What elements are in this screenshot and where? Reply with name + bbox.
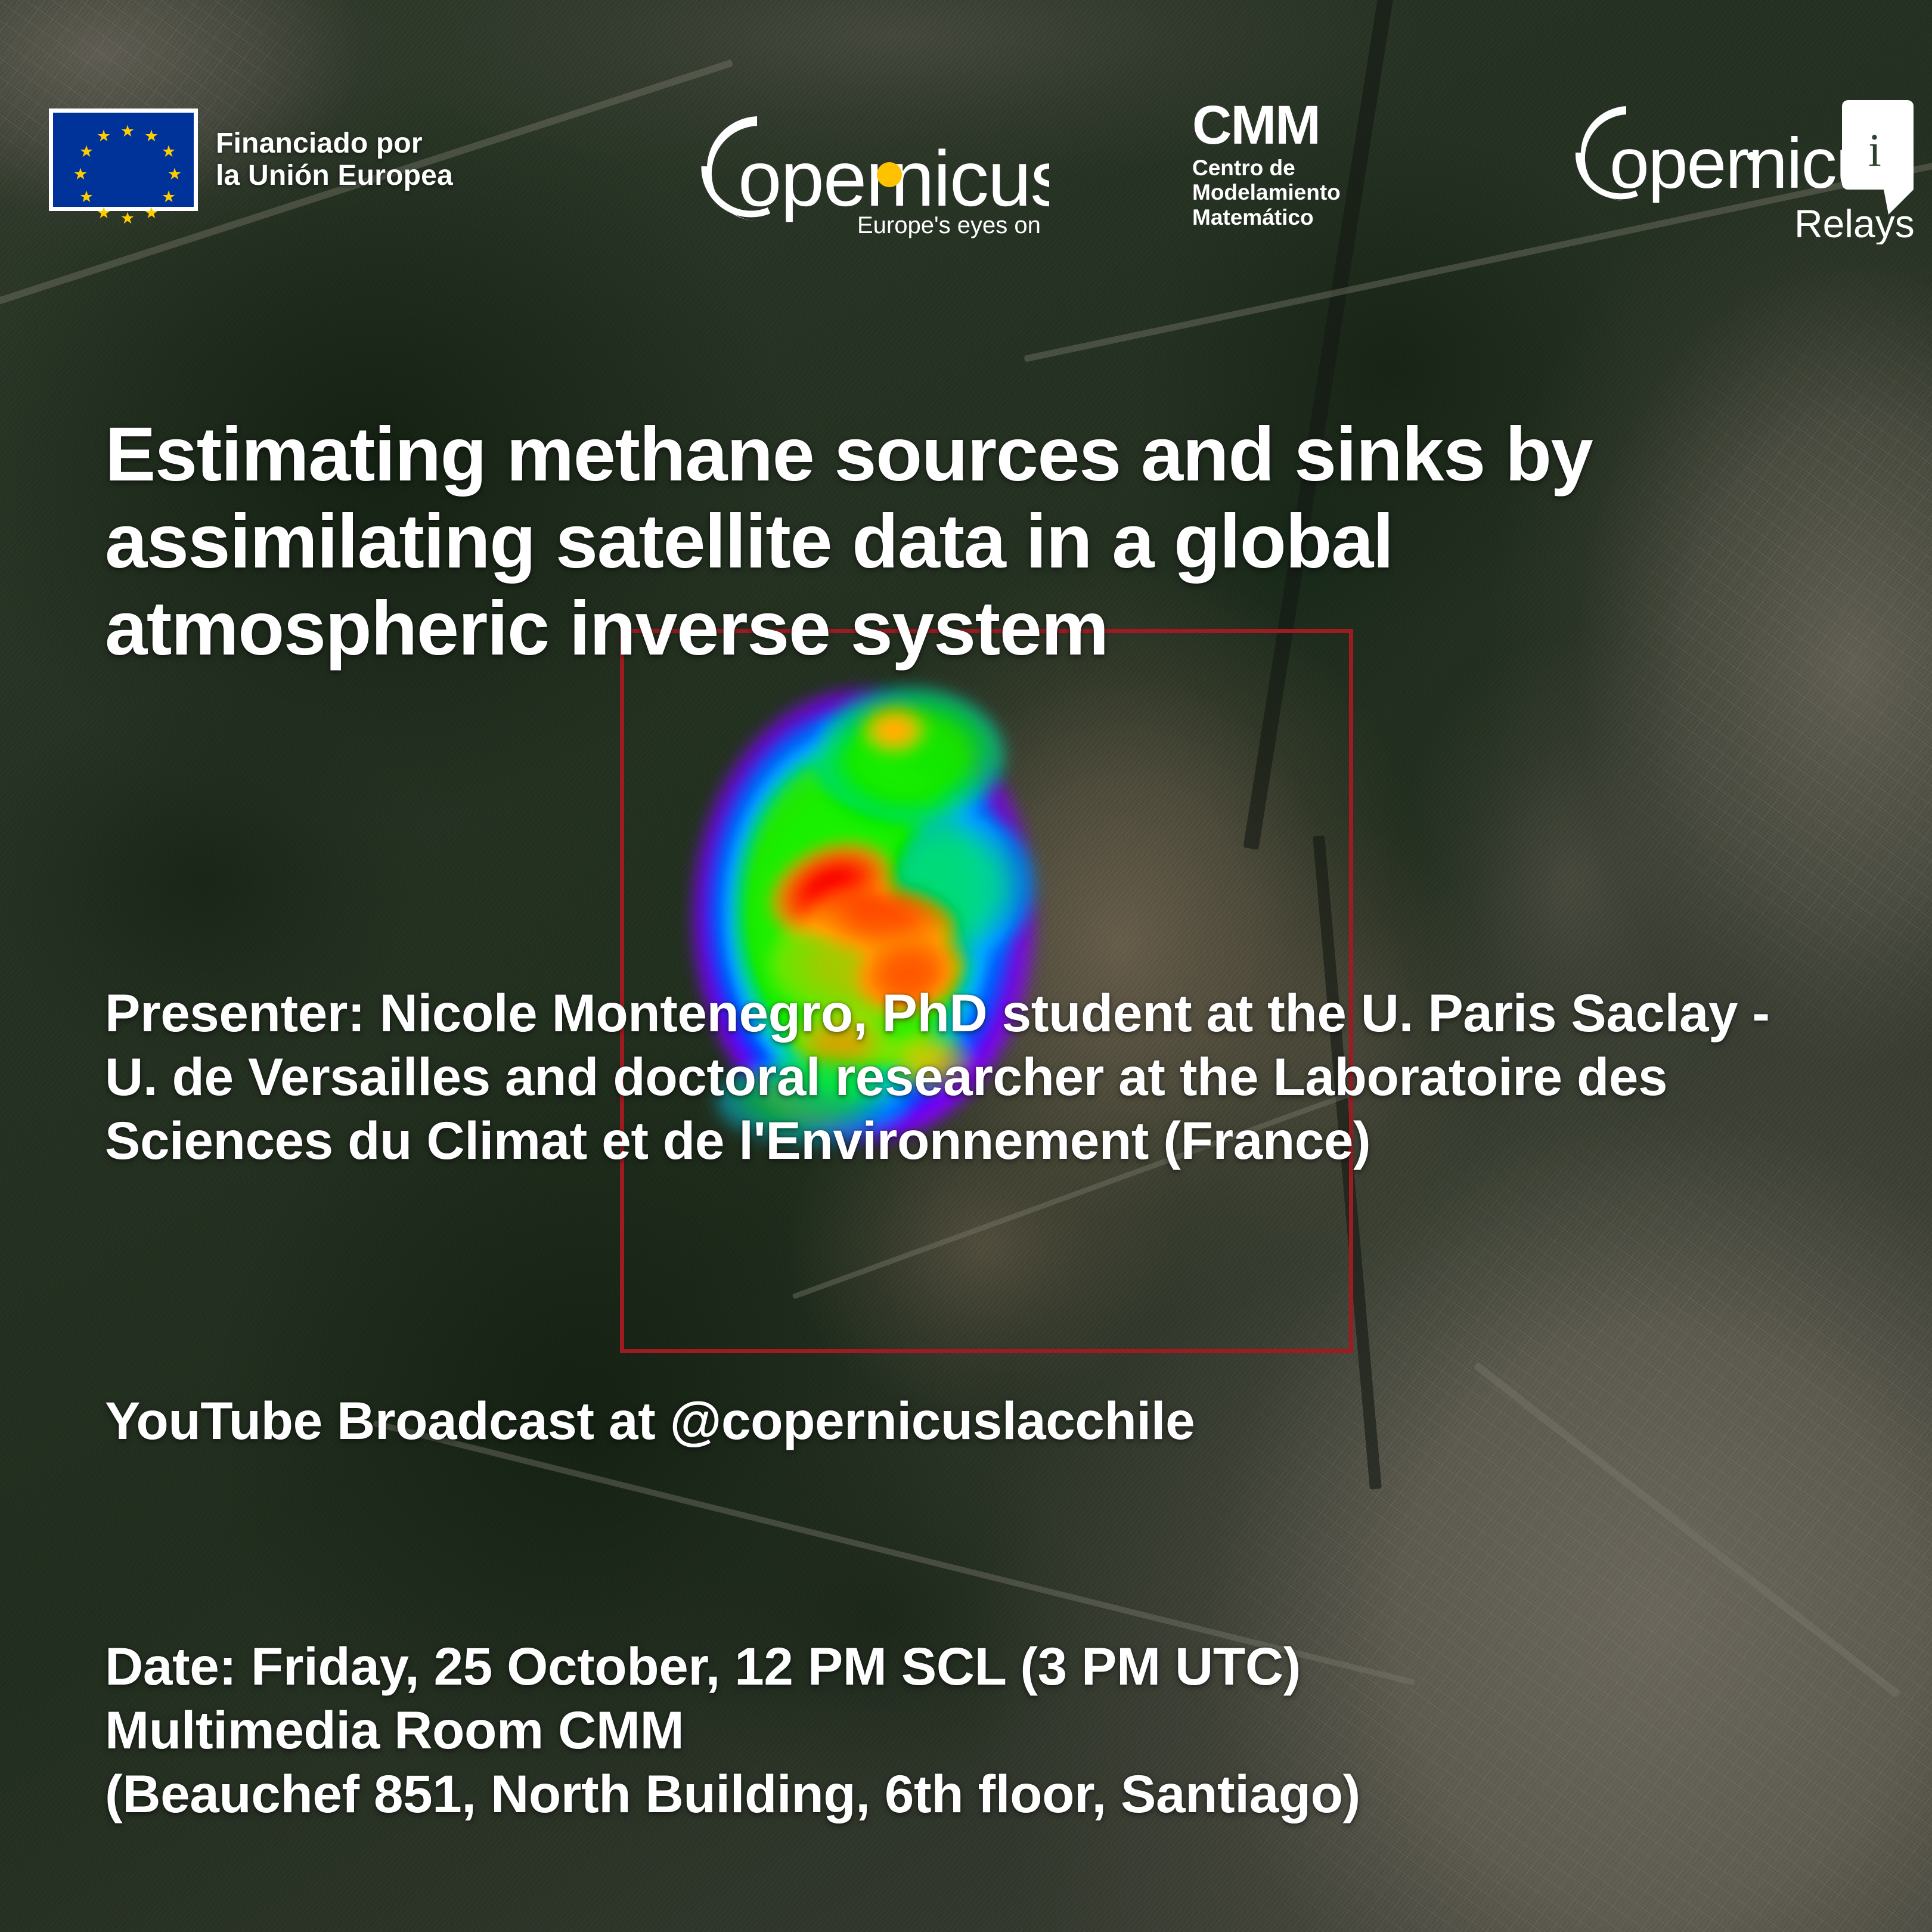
broadcast-info: YouTube Broadcast at @copernicuslacchile xyxy=(105,1389,1792,1453)
presenter-info: Presenter: Nicole Montenegro, PhD studen… xyxy=(105,981,1792,1172)
poster-content: Estimating methane sources and sinks by … xyxy=(0,0,1932,1932)
date-location-info: Date: Friday, 25 October, 12 PM SCL (3 P… xyxy=(105,1635,1822,1825)
poster-canvas: ★ ★ ★ ★ ★ ★ ★ ★ ★ ★ ★ ★ Financiado por l… xyxy=(0,0,1932,1932)
page-title: Estimating methane sources and sinks by … xyxy=(105,411,1834,672)
